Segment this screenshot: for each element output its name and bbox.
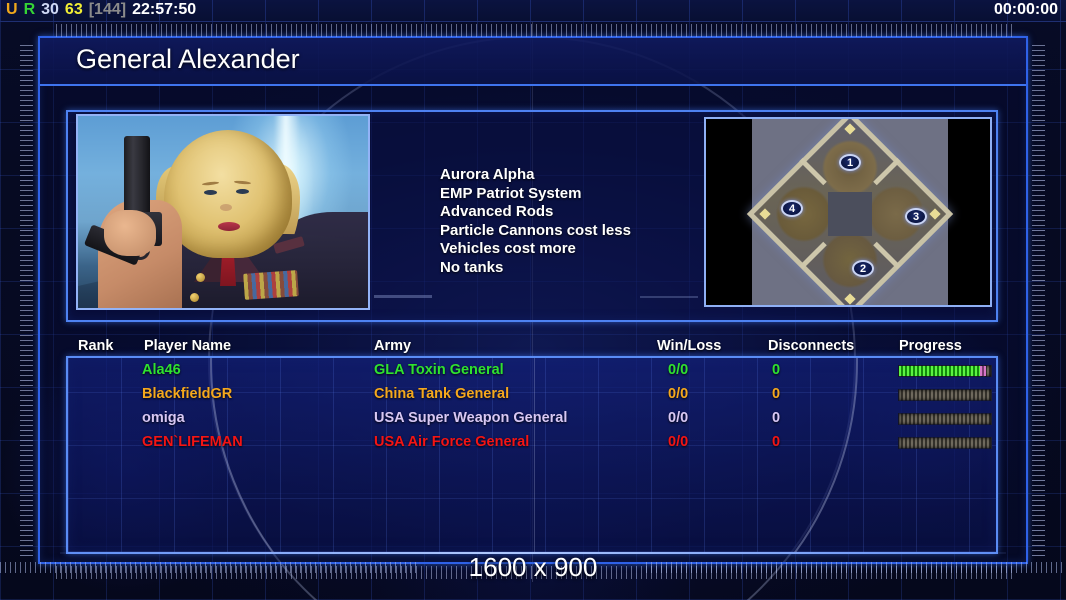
column-header-rank: Rank — [78, 338, 113, 354]
cell-disconnects: 0 — [772, 362, 780, 378]
top-status-bar: UR3063[144]22:57:50 00:00:00 — [0, 0, 1066, 22]
portrait-button-two — [190, 293, 199, 302]
map-start-position-1: 1 — [839, 154, 861, 171]
table-row[interactable]: omigaUSA Super Weapon General0/00 — [0, 410, 1066, 434]
ability-item: EMP Patriot System — [440, 185, 631, 204]
map-preview[interactable]: 1 2 3 4 — [704, 117, 992, 307]
portrait-button-one — [196, 273, 205, 282]
progress-bar — [898, 413, 992, 425]
map-center-area — [828, 192, 872, 236]
player-table-body: Ala46GLA Toxin General0/00BlackfieldGRCh… — [0, 362, 1066, 458]
cell-win-loss: 0/0 — [668, 386, 688, 402]
cell-player-name: BlackfieldGR — [142, 386, 232, 402]
column-header-player-name: Player Name — [144, 338, 231, 354]
ability-item: No tanks — [440, 259, 631, 278]
column-header-progress: Progress — [899, 338, 962, 354]
topbar-stats: UR3063[144]22:57:50 — [6, 1, 202, 19]
divider-dash-left — [374, 295, 432, 298]
progress-bar-fill — [899, 366, 980, 376]
progress-bar-tip — [980, 366, 986, 376]
page-title: General Alexander — [76, 44, 300, 75]
ability-item: Particle Cannons cost less — [440, 222, 631, 241]
cell-army: China Tank General — [374, 386, 509, 402]
cell-win-loss: 0/0 — [668, 362, 688, 378]
cell-army: USA Super Weapon General — [374, 410, 567, 426]
stat-value-30: 30 — [41, 1, 59, 18]
general-portrait — [76, 114, 370, 310]
cell-player-name: omiga — [142, 410, 185, 426]
cell-disconnects: 0 — [772, 434, 780, 450]
general-abilities-list: Aurora Alpha EMP Patriot System Advanced… — [440, 166, 631, 277]
table-row[interactable]: GEN`LIFEMANUSA Air Force General0/00 — [0, 434, 1066, 458]
portrait-lips — [218, 222, 240, 231]
stat-bracket-144: [144] — [89, 1, 126, 18]
map-start-position-4: 4 — [781, 200, 803, 217]
map-start-position-3: 3 — [905, 208, 927, 225]
column-header-army: Army — [374, 338, 411, 354]
resolution-label: 1600 x 900 — [0, 552, 1066, 583]
cell-win-loss: 0/0 — [668, 434, 688, 450]
progress-bar — [898, 389, 992, 401]
resolution-band: 1600 x 900 — [0, 546, 1066, 590]
column-header-disconnects: Disconnects — [768, 338, 854, 354]
game-lobby-screen: UR3063[144]22:57:50 00:00:00 General Ale… — [0, 0, 1066, 600]
portrait-hair-top — [164, 130, 292, 258]
ability-item: Vehicles cost more — [440, 240, 631, 259]
cell-player-name: Ala46 — [142, 362, 181, 378]
ability-item: Aurora Alpha — [440, 166, 631, 185]
portrait-nose — [220, 204, 232, 211]
map-start-position-2: 2 — [852, 260, 874, 277]
cell-win-loss: 0/0 — [668, 410, 688, 426]
ruler-left — [20, 44, 33, 556]
player-table-header: Rank Player Name Army Win/Loss Disconnec… — [0, 338, 1066, 358]
progress-bar — [898, 365, 992, 377]
stat-r-label: R — [24, 1, 36, 18]
ability-item: Advanced Rods — [440, 203, 631, 222]
cell-disconnects: 0 — [772, 386, 780, 402]
portrait-eye-right — [236, 189, 249, 194]
progress-bar — [898, 437, 992, 449]
portrait-medal-ribbons — [243, 270, 299, 300]
stat-value-63: 63 — [65, 1, 83, 18]
cell-disconnects: 0 — [772, 410, 780, 426]
divider-dash-right — [640, 296, 698, 298]
table-row[interactable]: Ala46GLA Toxin General0/00 — [0, 362, 1066, 386]
table-row[interactable]: BlackfieldGRChina Tank General0/00 — [0, 386, 1066, 410]
column-header-win-loss: Win/Loss — [657, 338, 721, 354]
cell-army: USA Air Force General — [374, 434, 529, 450]
cell-army: GLA Toxin General — [374, 362, 504, 378]
portrait-eye-left — [204, 190, 217, 195]
ruler-right — [1032, 44, 1045, 556]
match-timer: 00:00:00 — [994, 1, 1058, 19]
stat-u-label: U — [6, 1, 18, 18]
map-playfield: 1 2 3 4 — [752, 119, 948, 307]
system-clock: 22:57:50 — [132, 1, 196, 18]
cell-player-name: GEN`LIFEMAN — [142, 434, 243, 450]
portrait-hand — [104, 210, 156, 256]
